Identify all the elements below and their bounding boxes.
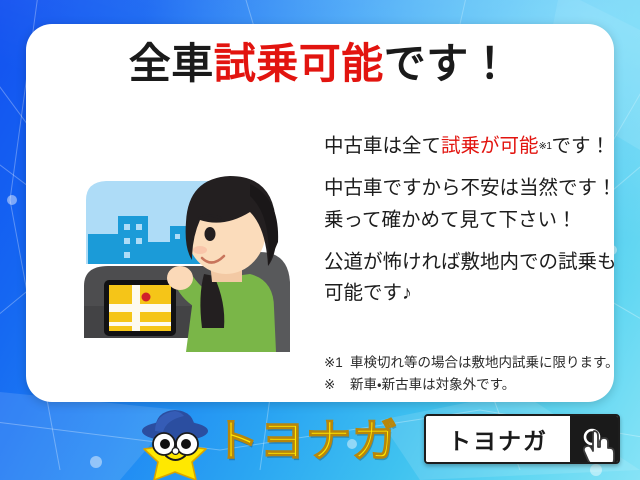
- headline-part-3: です！: [384, 40, 512, 87]
- body-line-4: 公道が怖ければ敷地内での試乗も: [324, 248, 640, 277]
- body-line-3: 乗って確かめて見て下さい！: [324, 206, 640, 235]
- headline: 全車試乗可能です！: [26, 42, 614, 86]
- footnotes: ※1車検切れ等の場合は敷地内試乗に限ります。 ※新車・新古車は対象外です。: [324, 352, 640, 396]
- body-line-1-highlight: 試乗が可能: [441, 135, 539, 157]
- toyonaga-star-mascot-icon: [136, 406, 214, 480]
- footnote-marker: ※1: [324, 352, 350, 374]
- body-paragraph-3: 公道が怖ければ敷地内での試乗も 可能です♪: [324, 248, 640, 309]
- advertisement-banner: 全車試乗可能です！: [0, 0, 640, 480]
- search-button[interactable]: [570, 416, 618, 462]
- body-line-5: 可能です♪: [324, 279, 640, 308]
- body-line-1-footnote-marker: ※1: [539, 141, 552, 152]
- body-copy: 中古車は全て試乗が可能※1です！ 中古車ですから不安は当然です！ 乗って確かめて…: [324, 132, 640, 310]
- search-input[interactable]: トヨナガ: [426, 416, 570, 462]
- footnote-marker: ※: [324, 374, 350, 396]
- body-paragraph-1: 中古車は全て試乗が可能※1です！: [324, 132, 640, 161]
- body-line-2: 中古車ですから不安は当然です！: [324, 174, 640, 203]
- body-line-1-post: です！: [551, 135, 610, 157]
- content-card: 全車試乗可能です！: [26, 24, 614, 402]
- footnote-row: ※新車・新古車は対象外です。: [324, 374, 640, 396]
- search-icon: [581, 426, 607, 452]
- body-paragraph-2: 中古車ですから不安は当然です！ 乗って確かめて見て下さい！: [324, 174, 640, 235]
- body-line-1-pre: 中古車は全て: [324, 135, 441, 157]
- brand-wordmark: トヨナガ: [214, 404, 398, 469]
- footnote-text: 車検切れ等の場合は敷地内試乗に限ります。: [350, 355, 619, 370]
- brand-band: トヨナガ トヨナガ: [0, 400, 640, 480]
- footnote-text: 新車・新古車は対象外です。: [350, 377, 515, 392]
- footnote-row: ※1車検切れ等の場合は敷地内試乗に限ります。: [324, 352, 640, 374]
- driving-illustration: [74, 156, 324, 356]
- headline-part-1: 全車: [129, 40, 214, 87]
- headline-part-2-highlight: 試乗可能: [214, 40, 384, 87]
- body-line-1: 中古車は全て試乗が可能※1です！: [324, 132, 640, 161]
- search-widget[interactable]: トヨナガ: [424, 414, 620, 464]
